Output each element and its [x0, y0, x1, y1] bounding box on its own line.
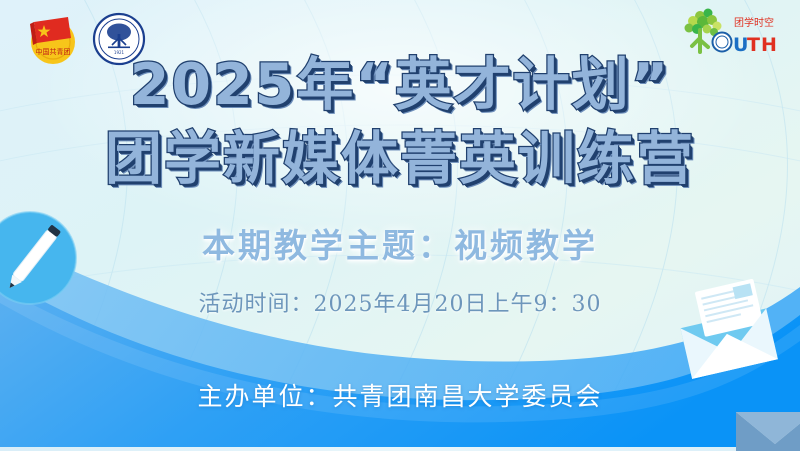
bottom-edge-strip — [0, 447, 800, 451]
event-time-text: 活动时间：2025年4月20日上午9：30 — [0, 291, 800, 319]
poster-title-line-1: 2025年“英才计划” — [0, 54, 800, 116]
svg-text:T: T — [747, 34, 760, 56]
organizer-text: 主办单位：共青团南昌大学委员会 — [0, 381, 800, 413]
open-envelope-decoration-icon — [646, 272, 800, 382]
poster-canvas: 中国共青团 1921 U T H 团学时空 — [0, 0, 800, 451]
svg-text:H: H — [761, 34, 777, 56]
youth-tree-logo-icon: U T H 团学时空 — [676, 4, 788, 60]
poster-subtitle: 本期教学主题：视频教学 — [0, 226, 800, 266]
youth-logo-chinese: 团学时空 — [734, 16, 774, 29]
poster-title-line-2: 团学新媒体菁英训练营 — [0, 128, 800, 190]
